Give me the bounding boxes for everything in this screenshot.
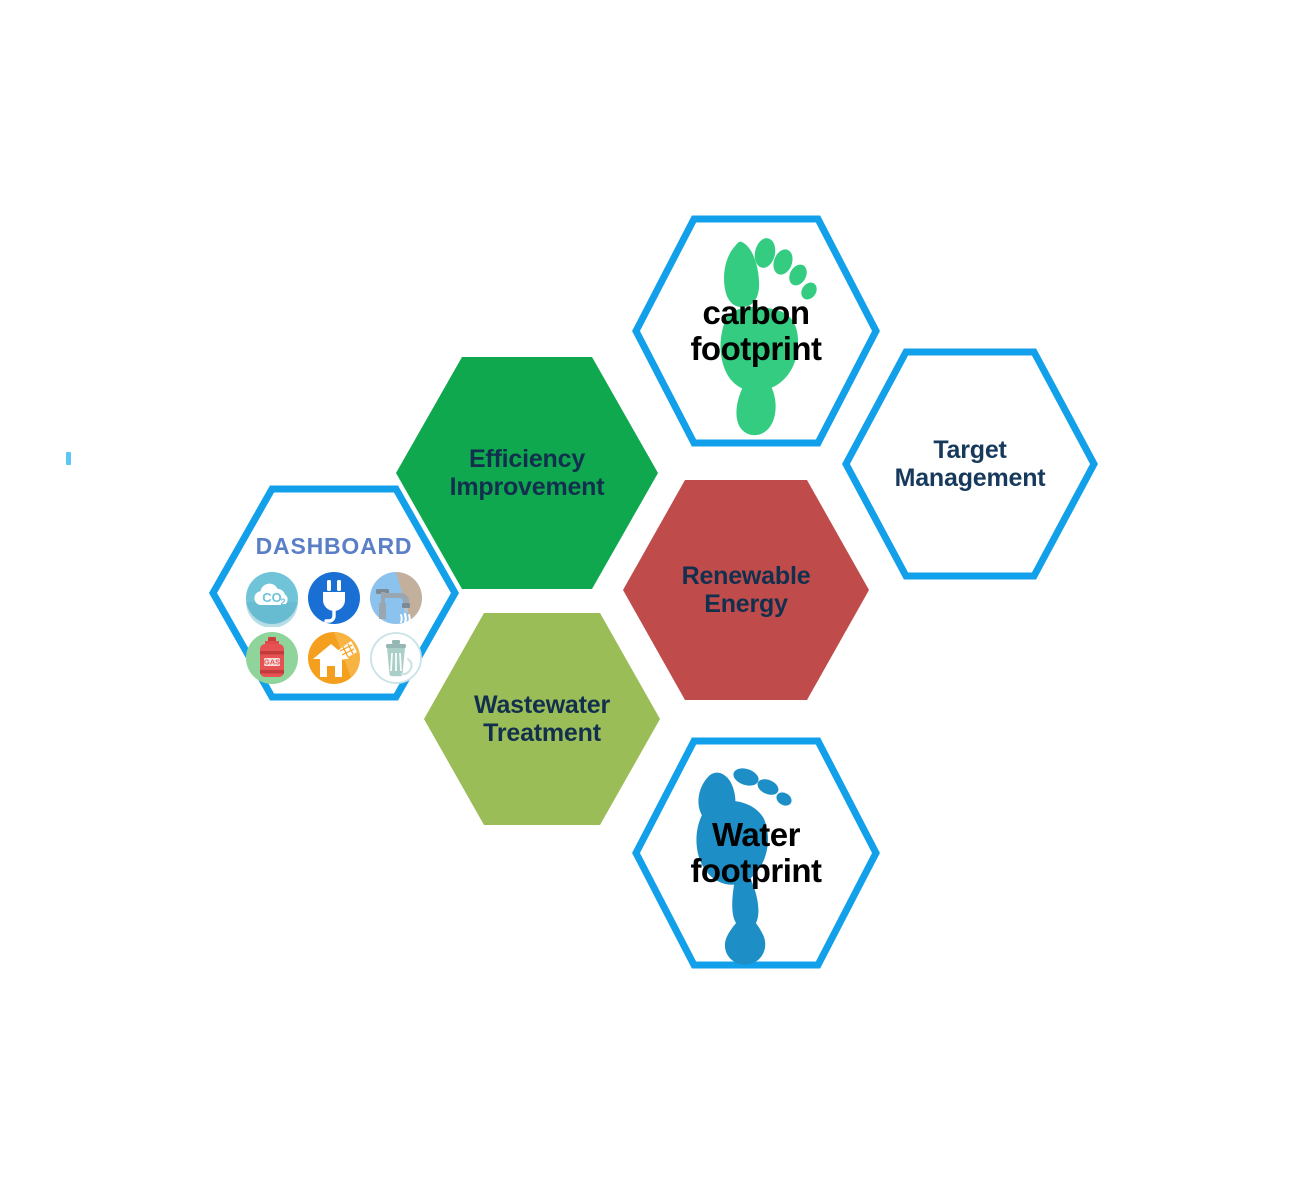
diagram-canvas: carbon footprint Efficiency Improvement … [0,0,1292,1186]
svg-text:2: 2 [280,597,285,607]
hex-target-management[interactable]: Target Management [842,348,1098,580]
solar-house-icon[interactable] [305,629,363,687]
gas-cylinder-icon[interactable]: GAS [243,629,301,687]
hex-water-footprint[interactable]: Water footprint [632,737,880,969]
hex-renewable-energy-label: Renewable Energy [682,562,811,618]
hex-carbon-footprint[interactable]: carbon footprint [632,215,880,447]
svg-text:GAS: GAS [264,658,280,667]
hex-dashboard[interactable]: DASHBOARD CO 2 [209,485,459,701]
hex-target-management-label: Target Management [895,436,1046,492]
dashboard-icon-grid: CO 2 [243,569,425,687]
hex-wastewater-treatment[interactable]: Wastewater Treatment [424,613,660,825]
hex-carbon-footprint-label: carbon footprint [690,295,821,368]
waste-bin-icon[interactable] [367,629,425,687]
hex-water-footprint-label: Water footprint [690,817,821,890]
electric-plug-icon[interactable] [305,569,363,627]
hex-efficiency-improvement-label: Efficiency Improvement [450,445,605,501]
water-tap-icon[interactable] [367,569,425,627]
stray-blue-mark [66,452,71,465]
svg-text:CO: CO [262,590,282,605]
hex-dashboard-label: DASHBOARD [256,533,413,560]
hex-wastewater-treatment-label: Wastewater Treatment [474,691,610,747]
co2-cloud-icon[interactable]: CO 2 [243,569,301,627]
